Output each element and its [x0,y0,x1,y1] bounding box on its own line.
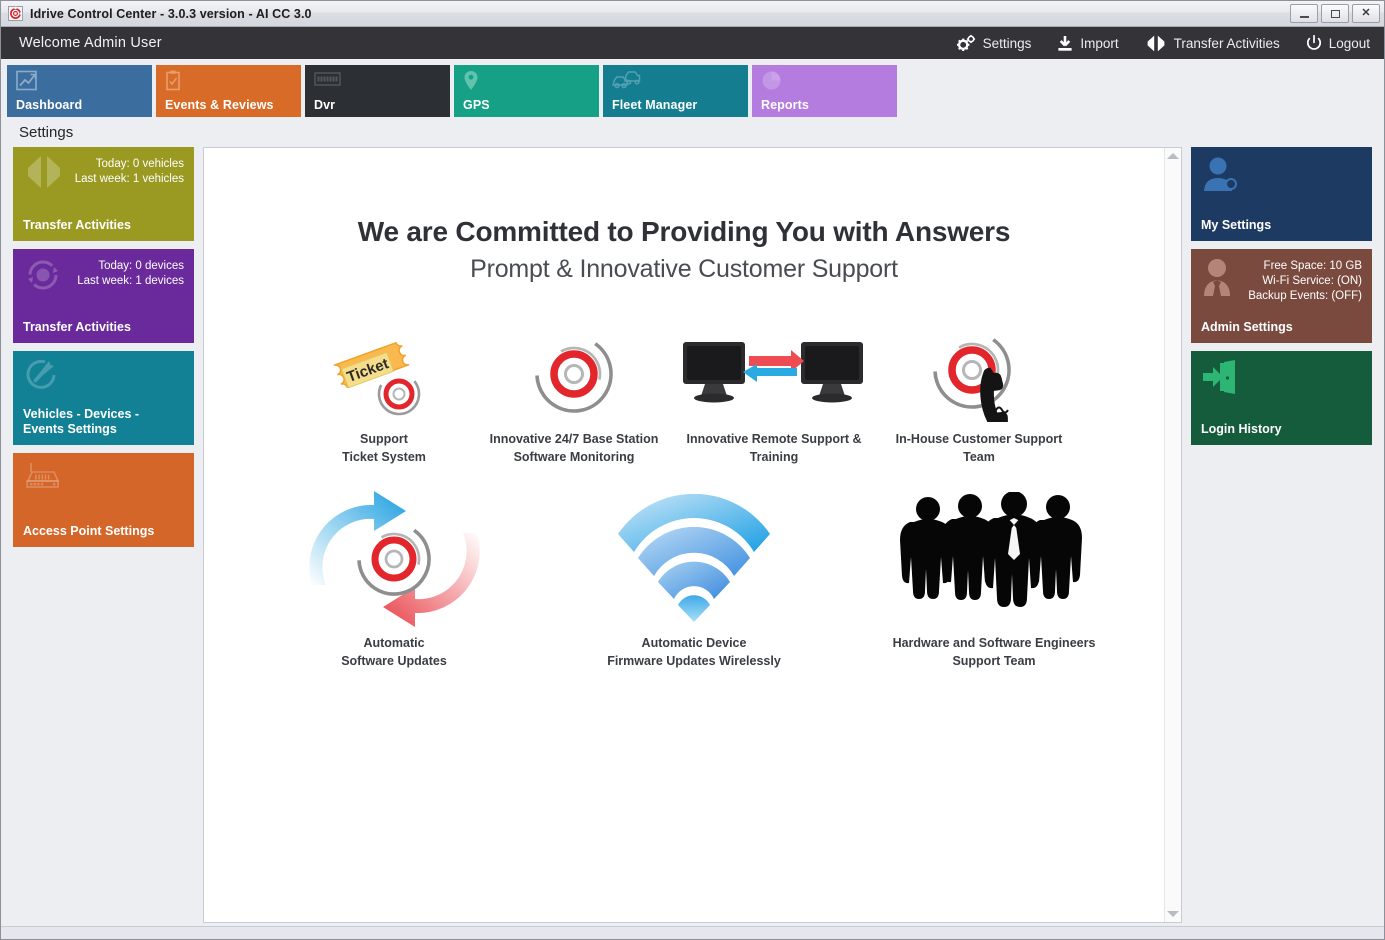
application-window: Idrive Control Center - 3.0.3 version - … [0,0,1385,940]
tab-gps[interactable]: GPS [454,65,599,117]
feature-automatic-software-updates: Automatic Software Updates [244,484,544,670]
tile-stats: Today: 0 vehicles Last week: 1 vehicles [23,157,184,187]
chart-trend-icon [16,70,152,92]
feature-remote-support-training: Innovative Remote Support & Training [669,318,879,466]
tab-dashboard[interactable]: Dashboard [7,65,152,117]
body-area: Today: 0 vehicles Last week: 1 vehicles … [1,147,1384,933]
tile-title: My Settings [1201,218,1361,233]
tile-stat-line: Last week: 1 devices [23,274,184,289]
status-bar [1,926,1384,939]
tile-stat-line: Today: 0 devices [23,259,184,274]
main-content-panel: We are Committed to Providing You with A… [203,147,1182,923]
feature-in-house-support-team: In-House Customer Support Team [879,318,1079,466]
tab-fleet-manager[interactable]: Fleet Manager [603,65,748,117]
feature-caption: Hardware and Software Engineers Support … [844,634,1144,670]
download-icon [1057,35,1073,52]
feature-caption: In-House Customer Support Team [879,430,1079,466]
tab-dashboard-label: Dashboard [16,98,82,112]
clipboard-check-icon [165,70,301,92]
close-button[interactable]: ✕ [1352,4,1380,23]
header-transfer-activities-button[interactable]: Transfer Activities [1145,35,1280,52]
tile-transfer-activities-vehicles[interactable]: Today: 0 vehicles Last week: 1 vehicles … [13,147,194,241]
support-phone-target-icon [879,318,1079,430]
tile-stats: Free Space: 10 GB Wi-Fi Service: (ON) Ba… [1201,259,1362,304]
tile-title: Transfer Activities [23,320,183,335]
window-controls: ✕ [1290,4,1380,23]
header-logout-label: Logout [1329,36,1370,51]
tile-stat-line: Free Space: 10 GB [1201,259,1362,274]
welcome-message: Welcome Admin User [19,35,162,51]
tab-events-reviews-label: Events & Reviews [165,98,274,112]
feature-caption: Automatic Device Firmware Updates Wirele… [544,634,844,670]
team-silhouette-icon [844,484,1144,634]
page-title: We are Committed to Providing You with A… [204,216,1164,248]
header-settings-button[interactable]: Settings [956,34,1032,52]
tile-admin-settings[interactable]: Free Space: 10 GB Wi-Fi Service: (ON) Ba… [1191,249,1372,343]
tile-stat-line: Today: 0 vehicles [23,157,184,172]
tile-title: Admin Settings [1201,320,1361,335]
tab-events-reviews[interactable]: Events & Reviews [156,65,301,117]
tile-stat-line: Last week: 1 vehicles [23,172,184,187]
wifi-signal-icon [544,484,844,634]
feature-caption: Support Ticket System [289,430,479,466]
tile-vehicles-devices-events-settings[interactable]: Vehicles - Devices - Events Settings [13,351,194,445]
tab-reports[interactable]: Reports [752,65,897,117]
wrench-icon [23,359,61,398]
page-subtitle: Prompt & Innovative Customer Support [204,255,1164,284]
tab-fleet-manager-label: Fleet Manager [612,98,697,112]
maximize-button[interactable] [1321,4,1349,23]
minimize-button[interactable] [1290,4,1318,23]
tab-reports-label: Reports [761,98,809,112]
tile-stat-line: Wi-Fi Service: (ON) [1201,274,1362,289]
header-import-button[interactable]: Import [1057,35,1118,52]
feature-caption: Innovative 24/7 Base Station Software Mo… [479,430,669,466]
feature-engineers-support-team: Hardware and Software Engineers Support … [844,484,1144,670]
scroll-up-icon[interactable] [1167,153,1179,159]
header-logout-button[interactable]: Logout [1306,35,1370,52]
feature-base-station-monitoring: Innovative 24/7 Base Station Software Mo… [479,318,669,466]
user-gear-icon [1201,155,1241,198]
vertical-scrollbar[interactable] [1164,148,1181,922]
tile-title: Access Point Settings [23,524,183,539]
tile-title: Vehicles - Devices - Events Settings [23,407,183,437]
header-settings-label: Settings [983,36,1032,51]
header-bar: Welcome Admin User [1,27,1384,59]
tile-login-history[interactable]: Login History [1191,351,1372,445]
map-pin-icon [463,70,599,92]
dvr-device-icon [314,70,450,92]
promo-content: We are Committed to Providing You with A… [204,148,1164,922]
title-bar: Idrive Control Center - 3.0.3 version - … [1,1,1384,27]
gears-icon [956,34,976,52]
tile-stat-line: Backup Events: (OFF) [1201,289,1362,304]
tab-dvr-label: Dvr [314,98,335,112]
target-ring-icon [8,6,23,21]
breadcrumb: Settings [1,117,1384,147]
software-update-target-icon [244,484,544,634]
window-title: Idrive Control Center - 3.0.3 version - … [30,7,312,21]
tile-stats: Today: 0 devices Last week: 1 devices [23,259,184,289]
header-actions: Settings Import Transf [956,34,1370,52]
feature-row-2: Automatic Software Updates [204,484,1164,670]
tile-title: Transfer Activities [23,218,183,233]
breadcrumb-label: Settings [19,124,73,141]
transfer-arrows-icon [1145,35,1167,52]
tile-transfer-activities-devices[interactable]: Today: 0 devices Last week: 1 devices Tr… [13,249,194,343]
router-icon [23,461,65,500]
login-door-icon [1201,359,1239,400]
right-sidebar: My Settings Free Space: 10 GB Wi-Fi Serv… [1191,147,1372,923]
power-icon [1306,35,1322,52]
primary-nav-tabs: Dashboard Events & Reviews [1,59,1384,117]
pie-chart-icon [761,70,897,92]
scroll-down-icon[interactable] [1167,911,1179,917]
left-sidebar: Today: 0 vehicles Last week: 1 vehicles … [13,147,194,923]
feature-row-1: Ticket Support Ticket System [204,318,1164,466]
feature-support-ticket-system: Ticket Support Ticket System [289,318,479,466]
remote-monitors-icon [669,318,879,430]
tab-gps-label: GPS [463,98,490,112]
tile-my-settings[interactable]: My Settings [1191,147,1372,241]
vehicles-icon [612,70,748,92]
base-station-target-icon [479,318,669,430]
tab-dvr[interactable]: Dvr [305,65,450,117]
feature-caption: Innovative Remote Support & Training [669,430,879,466]
tile-access-point-settings[interactable]: Access Point Settings [13,453,194,547]
header-import-label: Import [1080,36,1118,51]
feature-caption: Automatic Software Updates [244,634,544,670]
feature-firmware-updates-wireless: Automatic Device Firmware Updates Wirele… [544,484,844,670]
header-transfer-activities-label: Transfer Activities [1174,36,1280,51]
support-ticket-icon: Ticket [289,318,479,430]
tile-title: Login History [1201,422,1361,437]
promo-heading: We are Committed to Providing You with A… [204,216,1164,284]
